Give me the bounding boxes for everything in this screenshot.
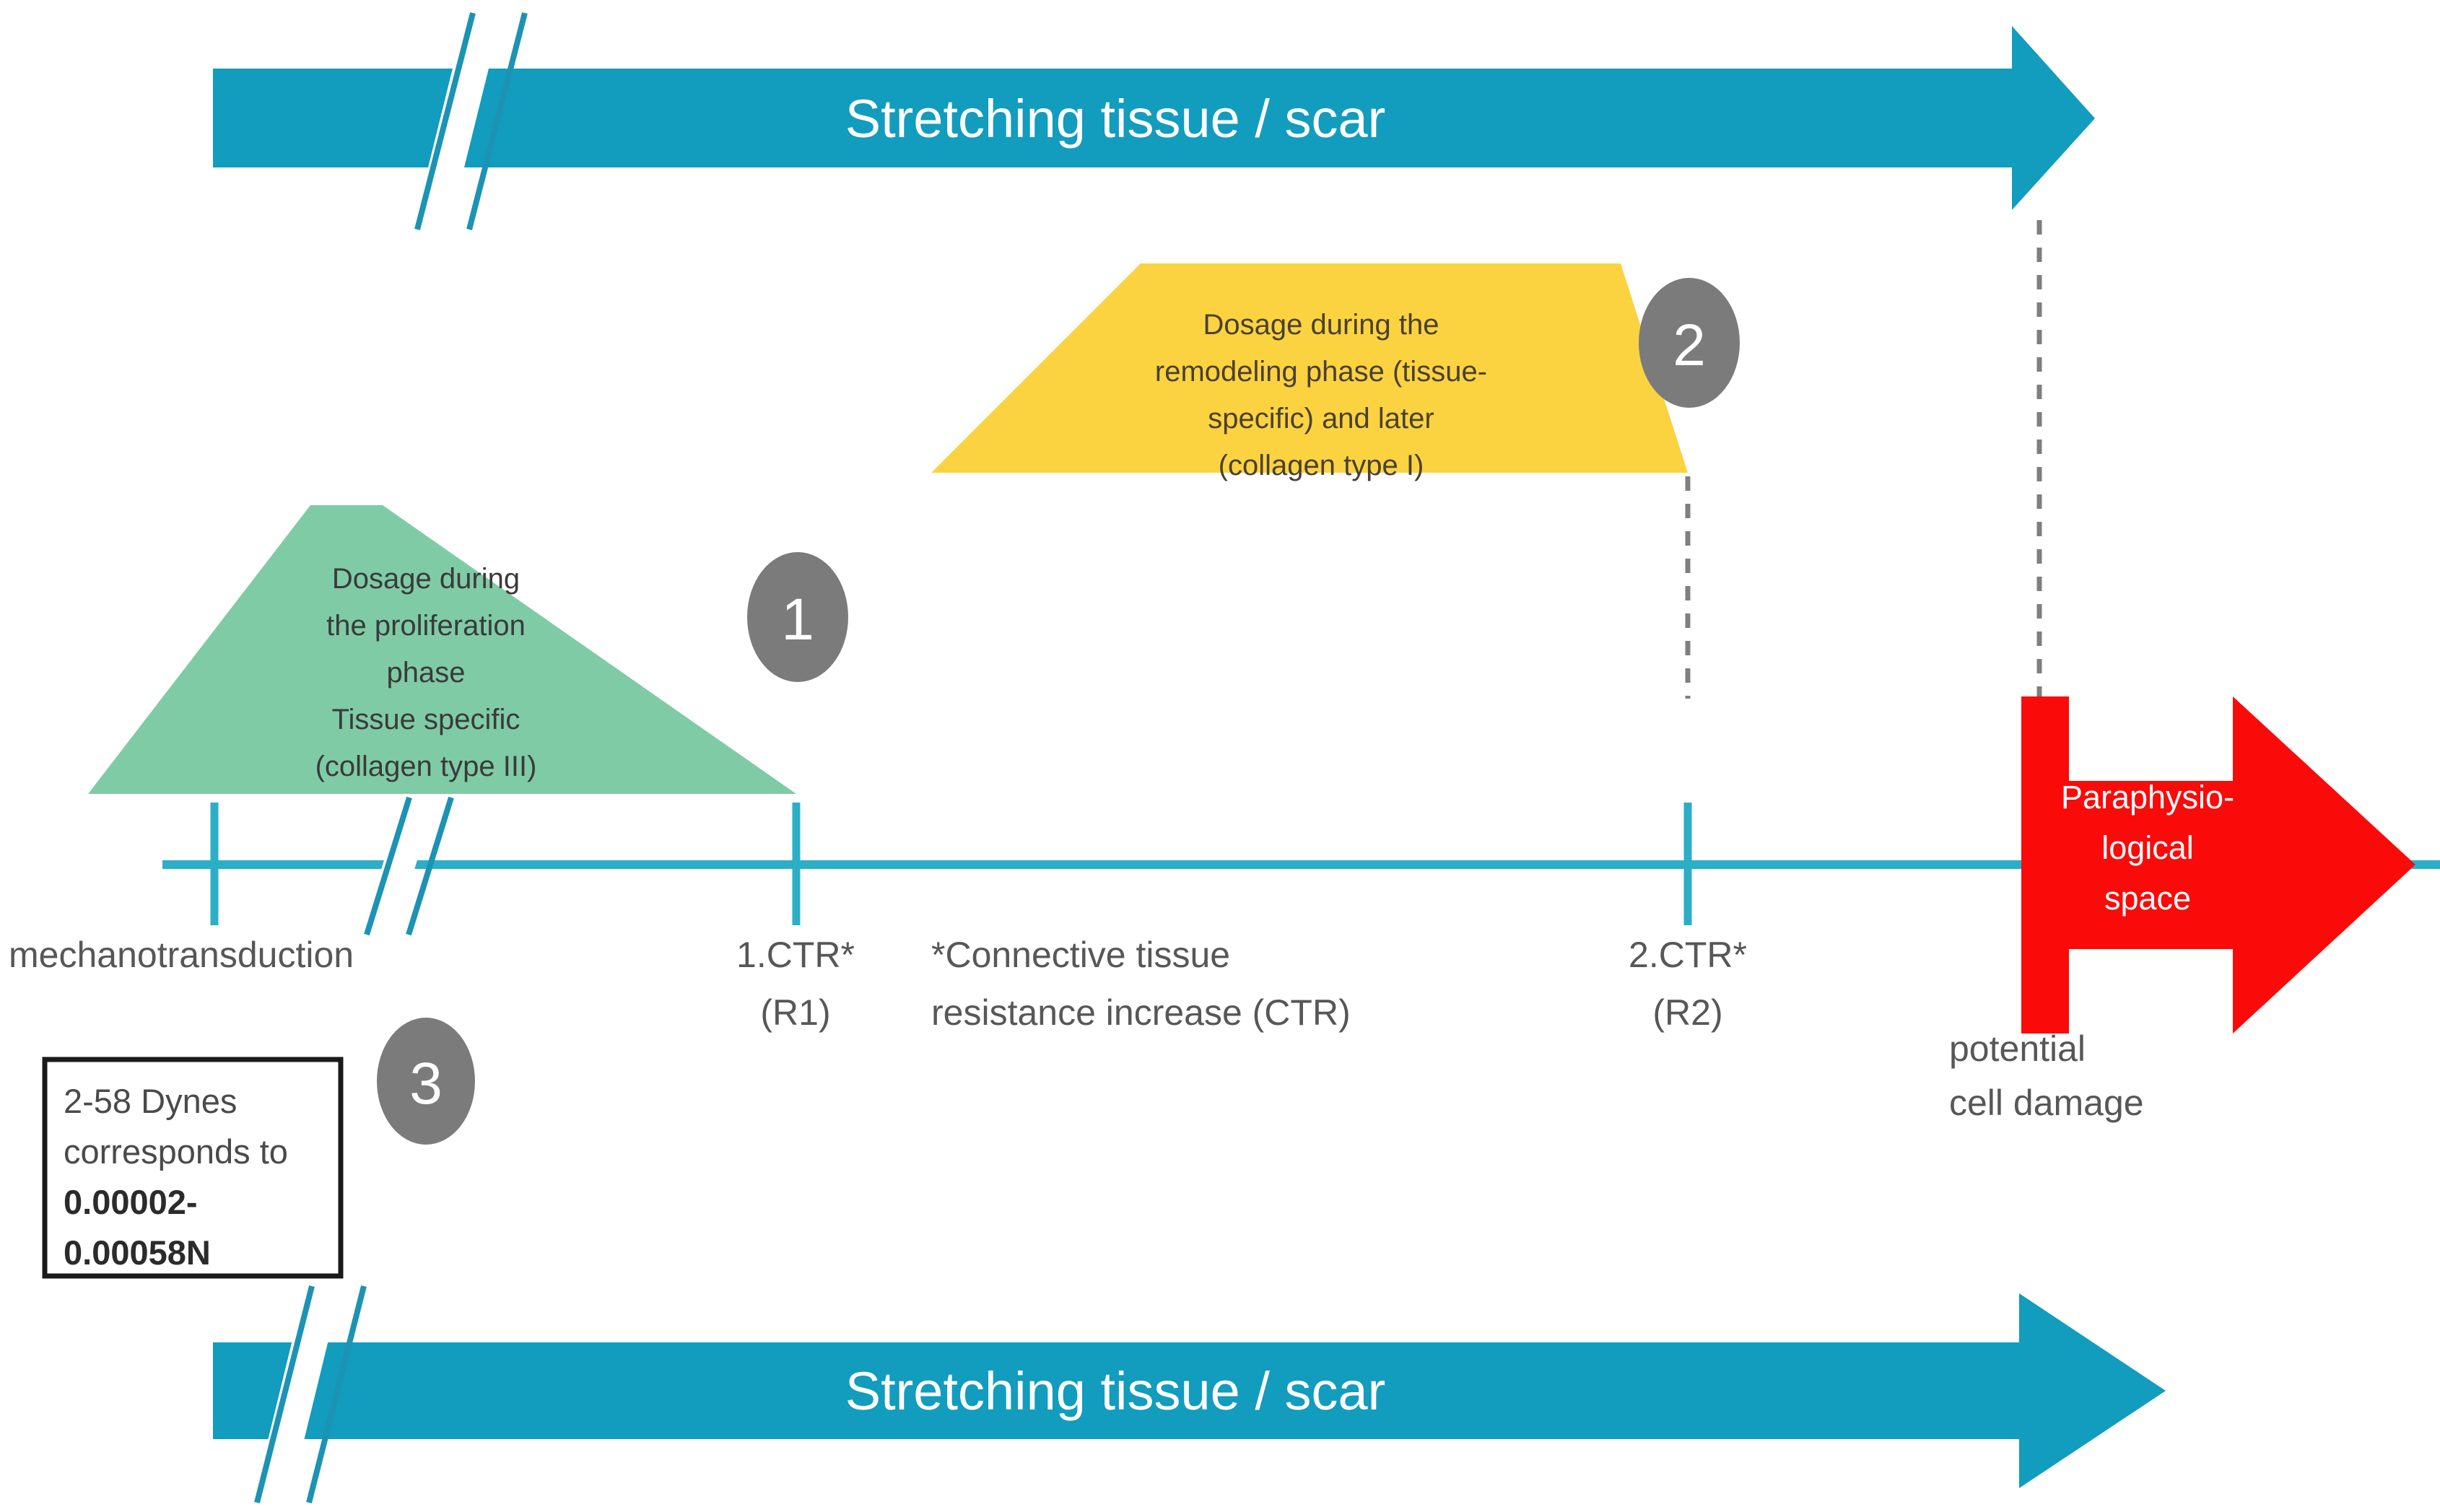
badge-3-number: 3 bbox=[409, 1051, 443, 1116]
red-arrow-label-line-2: space bbox=[2104, 880, 2191, 917]
callout-box-line-1: corresponds to bbox=[64, 1132, 288, 1171]
badge-1-number: 1 bbox=[781, 587, 814, 652]
trapezoid-remodeling-line-2: specific) and later bbox=[1208, 403, 1434, 434]
callout-box-line-3: 0.00058N bbox=[64, 1233, 211, 1272]
badge-2[interactable]: 2 bbox=[1639, 278, 1740, 408]
red-arrow-label-line-0: Paraphysio- bbox=[2061, 779, 2234, 816]
red-arrow-label-line-1: logical bbox=[2101, 829, 2194, 866]
red-arrow-shape bbox=[2021, 696, 2415, 1034]
axis-footnote-line-1: resistance increase (CTR) bbox=[931, 992, 1351, 1033]
badge-1[interactable]: 1 bbox=[747, 552, 848, 682]
axis-label-mechanotransduction: mechanotransduction bbox=[9, 935, 354, 975]
trapezoid-remodeling: Dosage during the remodeling phase (tiss… bbox=[931, 263, 1688, 481]
trapezoid-proliferation-line-2: phase bbox=[387, 657, 466, 689]
callout-box-dynes: 2-58 Dynes corresponds to 0.00002- 0.000… bbox=[45, 1059, 341, 1276]
badge-2-number: 2 bbox=[1673, 313, 1706, 378]
stretching-dosage-diagram: Stretching tissue / scar Dosage during t… bbox=[0, 0, 2440, 1512]
axis-label-ctr2-line-1: (R2) bbox=[1652, 992, 1722, 1033]
trapezoid-proliferation-line-1: the proliferation bbox=[326, 610, 526, 642]
axis-footnote-line-0: *Connective tissue bbox=[931, 935, 1230, 975]
red-arrow-paraphysiological-space: Paraphysio- logical space bbox=[2021, 696, 2415, 1034]
axis-label-ctr1-line-0: 1.CTR* bbox=[736, 935, 855, 975]
axis-label-ctr1-line-1: (R1) bbox=[760, 992, 830, 1033]
trapezoid-proliferation-line-4: (collagen type III) bbox=[315, 751, 537, 782]
bottom-band-arrow: Stretching tissue / scar bbox=[213, 1281, 2166, 1508]
trapezoid-proliferation: Dosage during the proliferation phase Ti… bbox=[88, 505, 796, 794]
callout-box-line-0: 2-58 Dynes bbox=[64, 1082, 237, 1120]
top-band-arrow: Stretching tissue / scar bbox=[213, 7, 2095, 235]
bottom-band-label: Stretching tissue / scar bbox=[845, 1361, 1386, 1421]
top-band-label: Stretching tissue / scar bbox=[845, 89, 1386, 149]
trapezoid-proliferation-line-0: Dosage during bbox=[332, 563, 520, 595]
trapezoid-remodeling-line-1: remodeling phase (tissue- bbox=[1155, 356, 1487, 388]
trapezoid-remodeling-line-3: (collagen type I) bbox=[1219, 450, 1424, 481]
trapezoid-remodeling-line-0: Dosage during the bbox=[1203, 309, 1439, 341]
diagram-canvas: Stretching tissue / scar Dosage during t… bbox=[0, 0, 2440, 1512]
trapezoid-proliferation-line-3: Tissue specific bbox=[332, 704, 520, 735]
badge-3[interactable]: 3 bbox=[377, 1018, 475, 1145]
callout-box-line-2: 0.00002- bbox=[64, 1183, 198, 1221]
red-arrow-caption-line-1: cell damage bbox=[1949, 1083, 2144, 1123]
red-arrow-caption-line-0: potential bbox=[1949, 1028, 2086, 1069]
axis-label-ctr2-line-0: 2.CTR* bbox=[1629, 935, 1747, 975]
